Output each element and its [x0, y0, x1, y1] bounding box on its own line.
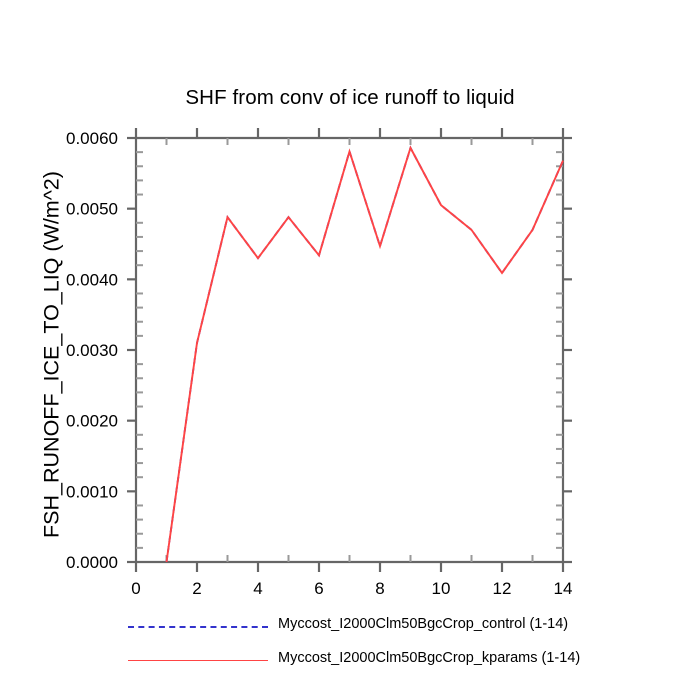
major-ticks — [127, 128, 572, 572]
y-tick-label: 0.0060 — [66, 129, 118, 148]
x-tick-label: 8 — [375, 579, 384, 598]
legend-swatch-kparams — [128, 660, 268, 661]
x-tick-label: 10 — [432, 579, 451, 598]
y-tick-label: 0.0050 — [66, 200, 118, 219]
y-tick-labels: 0.00000.00100.00200.00300.00400.00500.00… — [66, 129, 118, 572]
series-line-kparams — [167, 148, 564, 562]
y-tick-label: 0.0040 — [66, 270, 118, 289]
legend-swatch-control — [128, 626, 268, 628]
minor-ticks — [136, 138, 563, 562]
chart-figure: SHF from conv of ice runoff to liquid FS… — [0, 0, 700, 700]
legend-item-control: Myccost_I2000Clm50BgcCrop_control (1-14) — [0, 612, 700, 646]
legend-label-control: Myccost_I2000Clm50BgcCrop_control (1-14) — [278, 616, 568, 632]
axis-frame — [136, 138, 563, 562]
x-tick-label: 2 — [192, 579, 201, 598]
plot-area: 0.00000.00100.00200.00300.00400.00500.00… — [0, 0, 700, 700]
x-tick-label: 12 — [493, 579, 512, 598]
x-tick-label: 14 — [554, 579, 573, 598]
x-tick-label: 0 — [131, 579, 140, 598]
y-tick-label: 0.0010 — [66, 482, 118, 501]
x-tick-label: 6 — [314, 579, 323, 598]
y-tick-label: 0.0000 — [66, 553, 118, 572]
y-tick-label: 0.0030 — [66, 341, 118, 360]
chart-legend: Myccost_I2000Clm50BgcCrop_control (1-14)… — [0, 612, 700, 680]
data-series — [167, 148, 564, 562]
y-tick-label: 0.0020 — [66, 412, 118, 431]
x-tick-label: 4 — [253, 579, 262, 598]
legend-item-kparams: Myccost_I2000Clm50BgcCrop_kparams (1-14) — [0, 646, 700, 680]
series-line-control — [167, 148, 564, 562]
x-tick-labels: 02468101214 — [131, 579, 572, 598]
legend-label-kparams: Myccost_I2000Clm50BgcCrop_kparams (1-14) — [278, 650, 580, 666]
